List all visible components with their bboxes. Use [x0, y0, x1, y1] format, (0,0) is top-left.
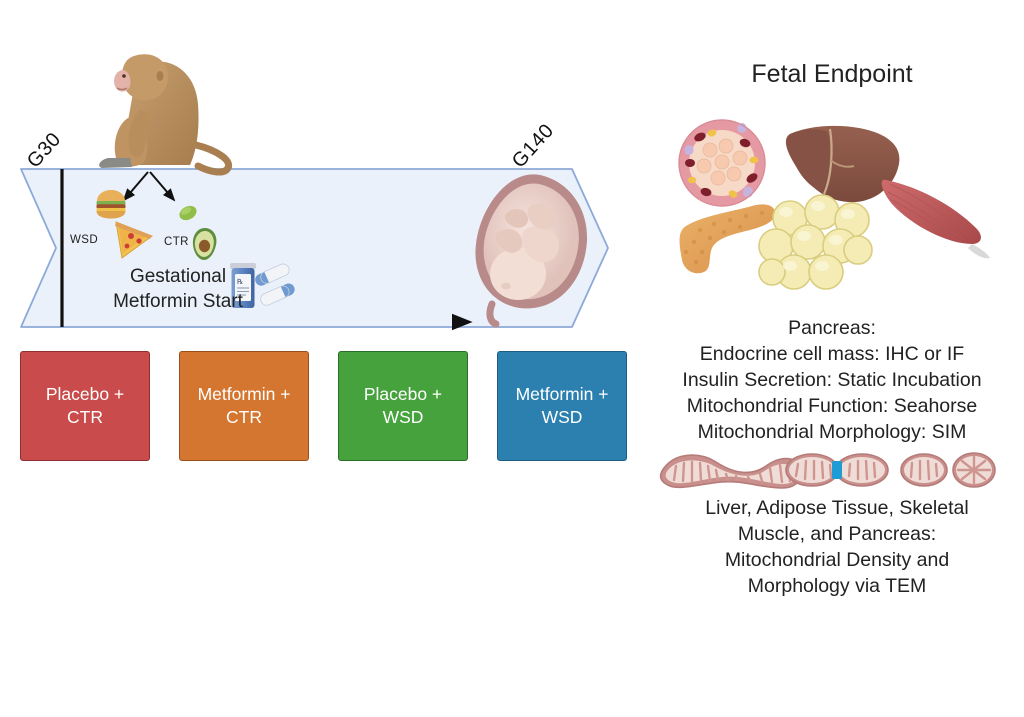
group-label-line2: WSD	[516, 406, 609, 429]
timeline-start-label: G30	[23, 128, 66, 173]
tem-line-1: Muscle, and Pancreas:	[650, 521, 1024, 547]
fetal-endpoint-title: Fetal Endpoint	[640, 60, 1024, 89]
group-label-line1: Placebo +	[364, 383, 442, 406]
pancreas-assay-list: Pancreas: Endocrine cell mass: IHC or IF…	[640, 315, 1024, 445]
metformin-start-line2: Metformin Start	[88, 289, 268, 314]
fissioning-mitochondrion-icon	[786, 454, 888, 486]
assay-line-3: Mitochondrial Function: Seahorse	[640, 393, 1024, 419]
study-design-figure: ℞	[0, 0, 1024, 717]
assay-line-0: Pancreas:	[640, 315, 1024, 341]
metformin-start-line1: Gestational	[88, 264, 268, 289]
oval-mitochondrion-icon	[901, 454, 947, 486]
elongated-mitochondrion-icon	[661, 455, 802, 488]
group-label-line2: CTR	[46, 406, 124, 429]
diet-branch-arrows	[124, 172, 174, 200]
pancreatic-islet-icon	[679, 120, 765, 206]
metformin-start-caption: Gestational Metformin Start	[88, 264, 268, 314]
timeline-end-label: G140	[508, 120, 559, 173]
tem-line-2: Mitochondrial Density and	[650, 547, 1024, 573]
group-box-metformin-wsd[interactable]: Metformin + WSD	[497, 351, 627, 461]
assay-line-1: Endocrine cell mass: IHC or IF	[640, 341, 1024, 367]
tem-assay-list: Liver, Adipose Tissue, Skeletal Muscle, …	[650, 495, 1024, 599]
treatment-group-row: Placebo + CTR Metformin + CTR Placebo + …	[20, 351, 627, 461]
tem-line-3: Morphology via TEM	[650, 573, 1024, 599]
tem-line-0: Liver, Adipose Tissue, Skeletal	[650, 495, 1024, 521]
group-label-line1: Metformin +	[198, 383, 291, 406]
group-label-line1: Placebo +	[46, 383, 124, 406]
ctr-diet-label: CTR	[164, 236, 189, 248]
macaque-monkey-icon	[99, 54, 229, 172]
group-box-metformin-ctr[interactable]: Metformin + CTR	[179, 351, 309, 461]
group-label-line2: WSD	[364, 406, 442, 429]
fetus-in-utero-icon	[475, 174, 587, 324]
wsd-diet-label: WSD	[70, 234, 98, 246]
group-label-line1: Metformin +	[516, 383, 609, 406]
mitochondria-morphology-row	[661, 453, 995, 488]
assay-line-4: Mitochondrial Morphology: SIM	[640, 419, 1024, 445]
pizza-slice-icon	[115, 222, 152, 258]
round-mitochondrion-icon	[953, 453, 995, 487]
assay-line-2: Insulin Secretion: Static Incubation	[640, 367, 1024, 393]
group-box-placebo-wsd[interactable]: Placebo + WSD	[338, 351, 468, 461]
hamburger-icon	[97, 190, 126, 219]
green-bean-icon	[177, 203, 199, 223]
group-box-placebo-ctr[interactable]: Placebo + CTR	[20, 351, 150, 461]
pancreas-icon	[680, 204, 776, 273]
group-label-line2: CTR	[198, 406, 291, 429]
adipose-tissue-icon	[759, 195, 872, 289]
skeletal-muscle-icon	[882, 180, 990, 259]
avocado-icon	[193, 228, 217, 260]
liver-icon	[786, 126, 900, 202]
